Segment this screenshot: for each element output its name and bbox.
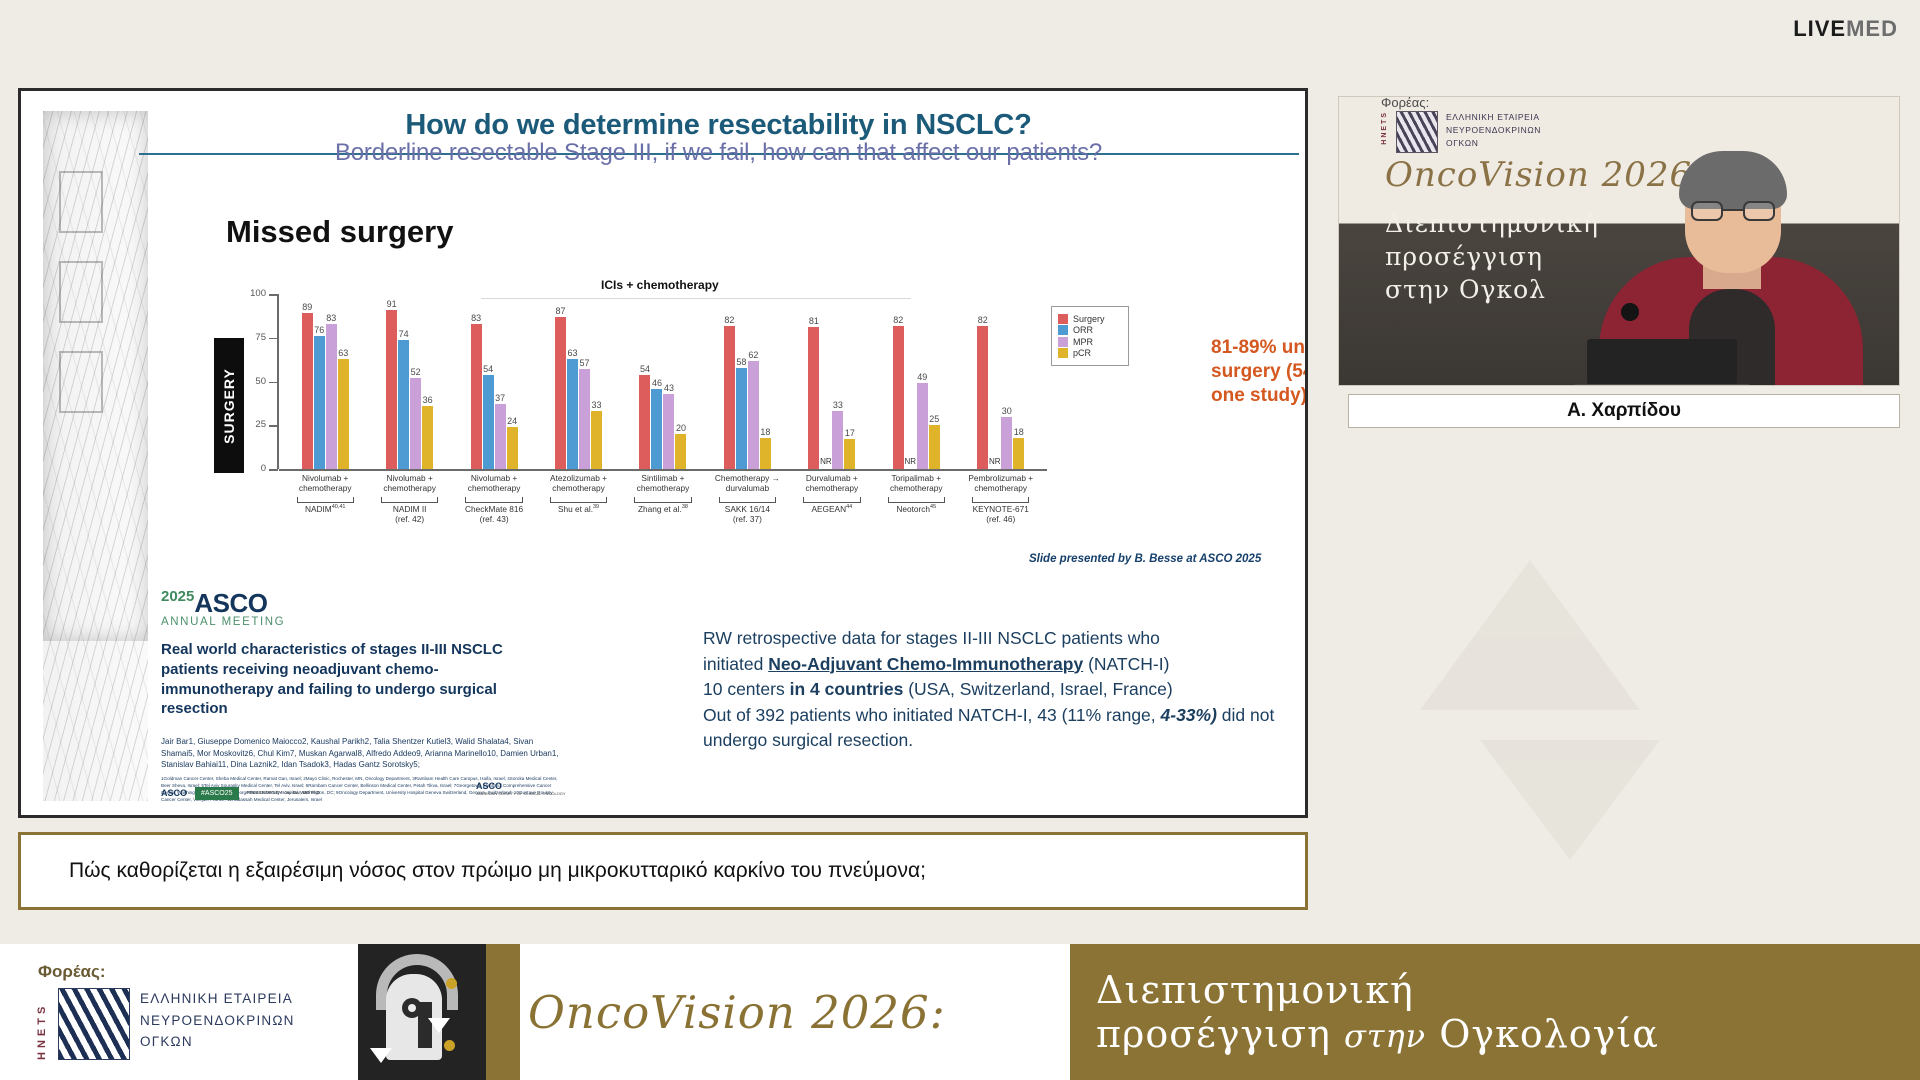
banner-org-line-1: ΕΛΛΗΝΙΚΗ ΕΤΑΙΡΕΙΑ xyxy=(140,991,293,1006)
rw-line-4-pre: Out of 392 patients who initiated NATCH-… xyxy=(703,705,1161,725)
bar-orr: 63 xyxy=(567,359,578,469)
sketch-window-2 xyxy=(59,261,103,323)
bar-value-label: 83 xyxy=(326,313,336,323)
legend-swatch-pcr xyxy=(1058,348,1068,358)
rw-line-2-bold: Neo-Adjuvant Chemo-Immunotherapy xyxy=(768,654,1083,674)
bar-mpr: 83 xyxy=(326,324,337,469)
triangle-decor-1 xyxy=(1420,560,1640,710)
bar-mpr: 33 xyxy=(832,411,843,469)
bar-value-label: 82 xyxy=(978,315,988,325)
y-tick-50: 50 xyxy=(196,376,266,387)
x-bracket xyxy=(634,497,691,503)
x-category-label: Chemotherapy → durvalumabSAKK 16/14(ref.… xyxy=(705,473,789,524)
bar-group: 89768363 xyxy=(283,294,367,469)
bar-value-label: 89 xyxy=(302,302,312,312)
bar-pcr: 24 xyxy=(507,427,518,469)
x-category-text: Toripalimab + chemotherapy xyxy=(874,473,958,494)
banner-event-title-block: OncoVision 2026: xyxy=(520,944,1080,1080)
x-category-text: Durvalumab + chemotherapy xyxy=(790,473,874,494)
bar-pcr: 17 xyxy=(844,439,855,469)
x-trial-name: NADIM II xyxy=(367,504,451,514)
bar-surgery: 91 xyxy=(386,310,397,469)
x-category-label: Nivolumab + chemotherapyNADIM II(ref. 42… xyxy=(367,473,451,524)
x-category-label: Nivolumab + chemotherapyNADIM40,41 xyxy=(283,473,367,524)
triangle-decor-2 xyxy=(1480,740,1660,860)
chart-x-axis xyxy=(279,469,1047,471)
x-trial-name: Shu et al.39 xyxy=(536,504,620,514)
video-player[interactable]: Φορέας: HNETS ΕΛΛΗΝΙΚΗ ΕΤΑΙΡΕΙΑ ΝΕΥΡΟΕΝΔ… xyxy=(1338,96,1900,386)
rw-line-3: 10 centers in 4 countries (USA, Switzerl… xyxy=(703,677,1303,703)
y-tick-mark xyxy=(269,382,278,384)
glasses-icon xyxy=(1691,201,1775,221)
surgery-side-tab: SURGERY xyxy=(214,338,244,473)
x-category-text: Sintilimab + chemotherapy xyxy=(621,473,705,494)
x-bracket xyxy=(972,497,1029,503)
bar-value-label: 46 xyxy=(652,378,662,388)
x-trial-name: SAKK 16/14 xyxy=(705,504,789,514)
legend-item: pCR xyxy=(1058,348,1122,358)
bar-surgery: 87 xyxy=(555,317,566,469)
x-category-label: Pembrolizumab + chemotherapyKEYNOTE-671(… xyxy=(959,473,1043,524)
asco-hashtag: #ASCO25 xyxy=(195,787,239,800)
slide-title: How do we determine resectability in NSC… xyxy=(151,109,1286,142)
video-tagline-3: στην Ογκολ xyxy=(1385,275,1546,304)
bar-orr: NR xyxy=(989,467,1000,469)
glasses-lens-left xyxy=(1691,201,1723,221)
rw-line-3-pre: 10 centers xyxy=(703,679,790,699)
bar-value-label: 25 xyxy=(929,414,939,424)
x-trial-ref: 40,41 xyxy=(332,504,346,510)
bar-pcr: 20 xyxy=(675,434,686,469)
rw-line-1: RW retrospective data for stages II-III … xyxy=(703,626,1303,652)
sketch-window-3 xyxy=(59,351,103,413)
bar-value-label: 83 xyxy=(471,313,481,323)
bar-pcr: 36 xyxy=(422,406,433,469)
y-tick-mark xyxy=(269,294,278,296)
banner-tagline-2b: στην xyxy=(1344,1017,1426,1055)
bar-value-label: 18 xyxy=(1014,427,1024,437)
asco-meeting-label: ANNUAL MEETING xyxy=(161,616,285,628)
chart-x-tick-labels: Nivolumab + chemotherapyNADIM40,41Nivolu… xyxy=(283,473,1043,524)
x-category-text: Nivolumab + chemotherapy xyxy=(367,473,451,494)
legend-label: MPR xyxy=(1073,337,1093,347)
sketch-window-1 xyxy=(59,171,103,233)
bar-value-label: NR xyxy=(905,457,917,466)
slide-subtitle: Borderline resectable Stage III, if we f… xyxy=(151,139,1286,167)
bar-value-label: 58 xyxy=(736,357,746,367)
legend-label: Surgery xyxy=(1073,314,1105,324)
asco-logo: 2025ASCO ANNUAL MEETING xyxy=(161,588,285,628)
artwork-triangle-1 xyxy=(428,1018,450,1033)
legend-item: ORR xyxy=(1058,325,1122,335)
video-foreas-label: Φορέας: xyxy=(1381,96,1429,110)
asco-authors: Jair Bar1, Giuseppe Domenico Maiocco2, K… xyxy=(161,736,561,771)
x-bracket xyxy=(803,497,860,503)
bar-orr: 54 xyxy=(483,375,494,470)
bar-value-label: 33 xyxy=(592,400,602,410)
rw-summary-text: RW retrospective data for stages II-III … xyxy=(703,626,1303,754)
hnets-line-2: ΝΕΥΡΟΕΝΔΟΚΡΙΝΩΝ xyxy=(1446,125,1541,135)
bar-mpr: 57 xyxy=(579,369,590,469)
banner-org-line-2: ΝΕΥΡΟΕΝΔΟΚΡΙΝΩΝ xyxy=(140,1013,295,1028)
glasses-lens-right xyxy=(1743,201,1775,221)
y-tick-0: 0 xyxy=(196,463,266,474)
asco-abstract-title: Real world characteristics of stages II-… xyxy=(161,640,541,719)
video-tagline-1: Διεπιστημονική xyxy=(1385,209,1599,238)
legend-item: Surgery xyxy=(1058,314,1122,324)
x-category-text: Atezolizumab + chemotherapy xyxy=(536,473,620,494)
bar-surgery: 54 xyxy=(639,375,650,470)
banner-hnets-logo: HNETS ΕΛΛΗΝΙΚΗ ΕΤΑΙΡΕΙΑ ΝΕΥΡΟΕΝΔΟΚΡΙΝΩΝ … xyxy=(36,988,295,1060)
bar-value-label: 24 xyxy=(507,416,517,426)
asco-footer-presenter: PRESENTED BY: Jair Bar, MD PhD xyxy=(247,790,447,797)
x-trial-name: Zhang et al.38 xyxy=(621,504,705,514)
hnets-line-1: ΕΛΛΗΝΙΚΗ ΕΤΑΙΡΕΙΑ xyxy=(1446,112,1540,122)
bar-orr: 46 xyxy=(651,389,662,470)
rw-line-4: Out of 392 patients who initiated NATCH-… xyxy=(703,703,1303,754)
slide-panel[interactable]: How do we determine resectability in NSC… xyxy=(18,88,1308,818)
bar-value-label: 54 xyxy=(640,364,650,374)
bar-value-label: 63 xyxy=(568,348,578,358)
hnets-line-3: ΟΓΚΩΝ xyxy=(1446,138,1478,148)
bar-orr: NR xyxy=(905,467,916,469)
bar-orr: 58 xyxy=(736,368,747,470)
bar-value-label: 37 xyxy=(495,393,505,403)
y-tick-25: 25 xyxy=(196,419,266,430)
banner-tagline-1: Διεπιστημονική xyxy=(1096,968,1920,1012)
x-category-text: Nivolumab + chemotherapy xyxy=(283,473,367,494)
bottom-banner: Φορέας: HNETS ΕΛΛΗΝΙΚΗ ΕΤΑΙΡΕΙΑ ΝΕΥΡΟΕΝΔ… xyxy=(0,944,1920,1080)
x-trial-ref: (ref. 42) xyxy=(367,514,451,524)
bar-mpr: 37 xyxy=(495,404,506,469)
microphone-icon xyxy=(1621,303,1639,321)
x-trial-ref: (ref. 37) xyxy=(705,514,789,524)
bar-group: 82NR4925 xyxy=(874,294,958,469)
banner-tagline-2: προσέγγιση στην Ογκολογία xyxy=(1096,1012,1920,1056)
x-category-text: Nivolumab + chemotherapy xyxy=(452,473,536,494)
x-category-label: Sintilimab + chemotherapyZhang et al.38 xyxy=(621,473,705,524)
bar-value-label: 30 xyxy=(1002,406,1012,416)
x-category-label: Atezolizumab + chemotherapyShu et al.39 xyxy=(536,473,620,524)
asco-footer-right-sub: AMERICAN SOCIETY OF CLINICAL ONCOLOGY xyxy=(476,791,566,796)
x-bracket xyxy=(550,497,607,503)
x-trial-ref: 45 xyxy=(930,504,936,510)
chart-group-header: ICIs + chemotherapy xyxy=(601,278,719,292)
bar-surgery: 81 xyxy=(808,327,819,469)
bar-value-label: 49 xyxy=(917,372,927,382)
chart-callout: 81-89% underwent surgery (54% in one stu… xyxy=(1211,336,1308,407)
bar-value-label: 18 xyxy=(760,427,770,437)
slide-attribution: Slide presented by B. Besse at ASCO 2025 xyxy=(1029,553,1261,565)
bar-value-label: 57 xyxy=(580,358,590,368)
asco-footer-right: ASCO AMERICAN SOCIETY OF CLINICAL ONCOLO… xyxy=(476,781,566,796)
bar-value-label: 54 xyxy=(483,364,493,374)
rw-line-4-italic: 4-33%) xyxy=(1161,705,1217,725)
bar-group: 83543724 xyxy=(452,294,536,469)
rw-line-2: initiated Neo-Adjuvant Chemo-Immunothera… xyxy=(703,652,1303,678)
speaker-name: Α. Χαρπίδου xyxy=(1567,400,1681,422)
x-bracket xyxy=(381,497,438,503)
bar-value-label: 63 xyxy=(338,348,348,358)
bar-value-label: 82 xyxy=(893,315,903,325)
bar-surgery: 83 xyxy=(471,324,482,469)
x-category-text: Chemotherapy → durvalumab xyxy=(705,473,789,494)
session-caption-bar: Πώς καθορίζεται η εξαιρέσιμη νόσος στον … xyxy=(18,832,1308,910)
legend-swatch-orr xyxy=(1058,325,1068,335)
banner-tagline-2a: προσέγγιση xyxy=(1096,1012,1331,1056)
bar-value-label: 36 xyxy=(423,395,433,405)
hnets-abbr: HNETS xyxy=(1381,111,1388,145)
bar-orr: 76 xyxy=(314,336,325,469)
chart-legend: SurgeryORRMPRpCR xyxy=(1051,306,1129,366)
asco-footer-right-logo: ASCO xyxy=(476,781,502,791)
bar-surgery: 82 xyxy=(893,326,904,470)
bar-value-label: NR xyxy=(989,457,1001,466)
video-hnets-logo: HNETS ΕΛΛΗΝΙΚΗ ΕΤΑΙΡΕΙΑ ΝΕΥΡΟΕΝΔΟΚΡΙΝΩΝ … xyxy=(1381,111,1541,153)
bar-group: 82586218 xyxy=(705,294,789,469)
banner-event-title: OncoVision 2026: xyxy=(528,986,946,1039)
y-tick-100: 100 xyxy=(196,288,266,299)
bar-value-label: 20 xyxy=(676,423,686,433)
bar-mpr: 52 xyxy=(410,378,421,469)
bar-value-label: NR xyxy=(820,457,832,466)
bar-mpr: 30 xyxy=(1001,417,1012,470)
bar-value-label: 52 xyxy=(411,367,421,377)
asco-abstract-block: 2025ASCO ANNUAL MEETING Real world chara… xyxy=(161,588,681,808)
bar-group: 82NR3018 xyxy=(959,294,1043,469)
bar-surgery: 89 xyxy=(302,313,313,469)
artwork-dot-2 xyxy=(444,1040,455,1051)
zebra-logo-icon xyxy=(1396,111,1438,153)
bar-group: 87635733 xyxy=(536,294,620,469)
top-bar: LIVEMED xyxy=(0,0,1920,58)
bar-value-label: 74 xyxy=(399,329,409,339)
bar-chart-figure: SURGERY ICIs + chemotherapy 0255075100 8… xyxy=(171,276,1291,576)
y-tick-75: 75 xyxy=(196,332,266,343)
bar-value-label: 91 xyxy=(387,299,397,309)
livemed-med: MED xyxy=(1846,16,1898,41)
x-trial-name: CheckMate 816 xyxy=(452,504,536,514)
x-category-label: Durvalumab + chemotherapyAEGEAN44 xyxy=(790,473,874,524)
x-trial-name: NADIM40,41 xyxy=(283,504,367,514)
legend-label: pCR xyxy=(1073,348,1091,358)
x-trial-ref: 44 xyxy=(846,504,852,510)
bar-value-label: 33 xyxy=(833,400,843,410)
x-category-text: Pembrolizumab + chemotherapy xyxy=(959,473,1043,494)
asco-wordmark: ASCO xyxy=(194,588,267,619)
slide-sidebar-sketch xyxy=(43,111,148,801)
banner-org-line-3: ΟΓΚΩΝ xyxy=(140,1034,193,1049)
bar-group: 81NR3317 xyxy=(790,294,874,469)
banner-zebra-logo-icon xyxy=(58,988,130,1060)
bar-mpr: 43 xyxy=(663,394,674,469)
banner-hnets-abbr: HNETS xyxy=(36,988,48,1060)
x-category-label: Nivolumab + chemotherapyCheckMate 816(re… xyxy=(452,473,536,524)
bar-pcr: 18 xyxy=(760,438,771,470)
artwork-triangle-2 xyxy=(370,1048,392,1063)
bar-group: 54464320 xyxy=(621,294,705,469)
x-trial-ref: (ref. 46) xyxy=(959,514,1043,524)
bar-mpr: 62 xyxy=(748,361,759,470)
x-trial-name: AEGEAN44 xyxy=(790,504,874,514)
bar-value-label: 17 xyxy=(845,428,855,438)
x-category-label: Toripalimab + chemotherapyNeotorch45 xyxy=(874,473,958,524)
bar-group: 91745236 xyxy=(367,294,451,469)
asco-footer-logo: ASCO xyxy=(161,788,187,798)
bar-value-label: 87 xyxy=(556,306,566,316)
banner-artwork-icon xyxy=(358,944,486,1080)
bar-orr: NR xyxy=(820,467,831,469)
x-trial-ref: 38 xyxy=(682,504,688,510)
legend-item: MPR xyxy=(1058,337,1122,347)
banner-org-name: ΕΛΛΗΝΙΚΗ ΕΤΑΙΡΕΙΑ ΝΕΥΡΟΕΝΔΟΚΡΙΝΩΝ ΟΓΚΩΝ xyxy=(140,988,295,1053)
bar-value-label: 62 xyxy=(748,350,758,360)
bar-surgery: 82 xyxy=(977,326,988,470)
banner-tagline-block: Διεπιστημονική προσέγγιση στην Ογκολογία xyxy=(1070,944,1920,1080)
legend-swatch-mpr xyxy=(1058,337,1068,347)
banner-tagline-2c: Ογκολογία xyxy=(1439,1012,1659,1056)
x-bracket xyxy=(465,497,522,503)
asco-year: 2025 xyxy=(161,588,194,605)
x-trial-name: Neotorch45 xyxy=(874,504,958,514)
speaker-name-bar: Α. Χαρπίδου xyxy=(1348,394,1900,428)
bar-pcr: 33 xyxy=(591,411,602,469)
x-bracket xyxy=(719,497,776,503)
bar-surgery: 82 xyxy=(724,326,735,470)
y-tick-mark xyxy=(269,469,278,471)
bar-value-label: 76 xyxy=(314,325,324,335)
x-trial-ref: (ref. 43) xyxy=(452,514,536,524)
laptop-icon xyxy=(1587,339,1737,385)
hnets-org-name: ΕΛΛΗΝΙΚΗ ΕΤΑΙΡΕΙΑ ΝΕΥΡΟΕΝΔΟΚΡΙΝΩΝ ΟΓΚΩΝ xyxy=(1446,111,1541,149)
legend-swatch-surgery xyxy=(1058,314,1068,324)
bar-value-label: 43 xyxy=(664,383,674,393)
livemed-live: LIVE xyxy=(1793,16,1846,41)
bar-pcr: 18 xyxy=(1013,438,1024,470)
section-heading: Missed surgery xyxy=(226,214,453,250)
bar-pcr: 25 xyxy=(929,425,940,469)
x-trial-name: KEYNOTE-671 xyxy=(959,504,1043,514)
bar-orr: 74 xyxy=(398,340,409,470)
rw-line-2-pre: initiated xyxy=(703,654,768,674)
glasses-bridge xyxy=(1723,209,1743,211)
session-caption-text: Πώς καθορίζεται η εξαιρέσιμη νόσος στον … xyxy=(21,859,926,883)
video-tagline-2: προσέγγιση xyxy=(1385,242,1543,271)
x-bracket xyxy=(888,497,945,503)
livemed-logo: LIVEMED xyxy=(1793,16,1898,42)
x-bracket xyxy=(297,497,354,503)
bar-mpr: 49 xyxy=(917,383,928,469)
artwork-dot-1 xyxy=(446,978,457,989)
rw-line-2-post: (NATCH-I) xyxy=(1083,654,1169,674)
bar-pcr: 63 xyxy=(338,359,349,469)
speaker-figure xyxy=(1581,125,1881,385)
rw-line-3-post: (USA, Switzerland, Israel, France) xyxy=(903,679,1172,699)
legend-label: ORR xyxy=(1073,325,1093,335)
banner-foreas-label: Φορέας: xyxy=(38,962,105,982)
chart-bar-groups: 8976836391745236835437248763573354464320… xyxy=(283,294,1043,469)
x-trial-ref: 39 xyxy=(593,504,599,510)
bar-value-label: 81 xyxy=(809,316,819,326)
y-tick-mark xyxy=(269,338,278,340)
rw-line-3-bold: in 4 countries xyxy=(790,679,904,699)
bar-value-label: 82 xyxy=(724,315,734,325)
y-tick-mark xyxy=(269,425,278,427)
